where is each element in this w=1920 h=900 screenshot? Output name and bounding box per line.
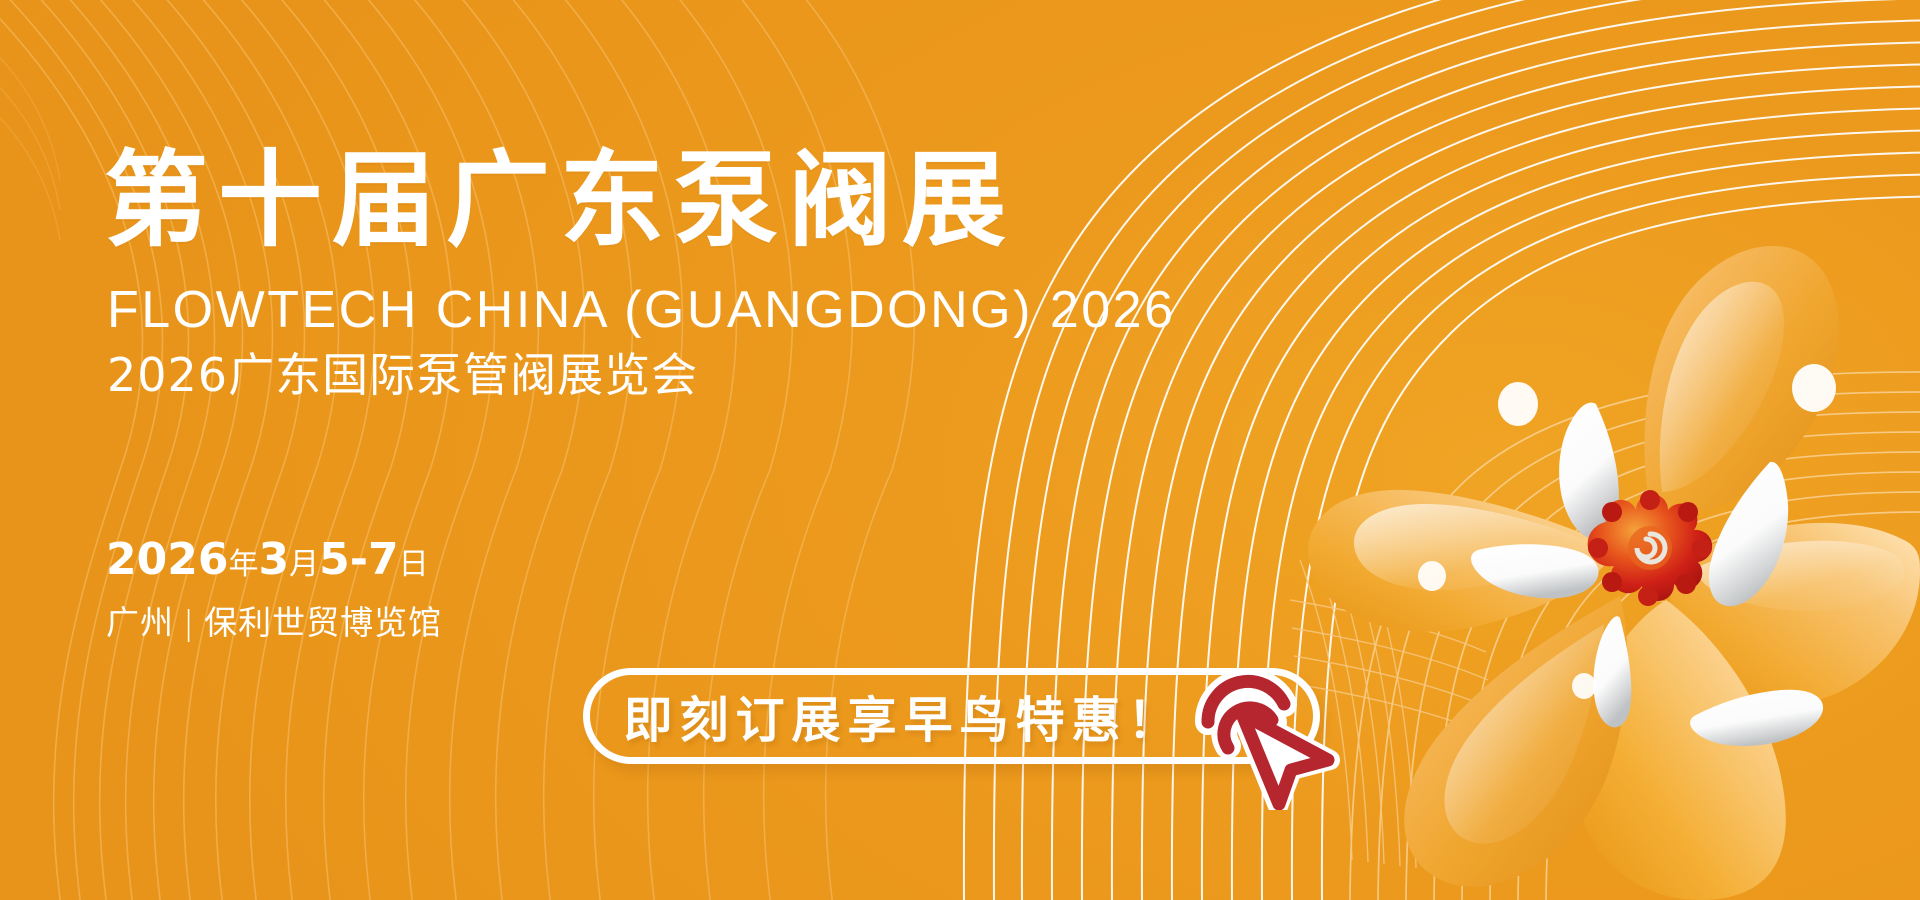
banner-content: 第十届广东泵阀展 FLOWTECH CHINA (GUANGDONG) 2026… <box>0 0 1920 900</box>
venue-name: 保利世贸博览馆 <box>204 603 442 642</box>
date-month-unit: 月 <box>289 547 319 582</box>
date-month: 3 <box>258 534 289 585</box>
mouse-click-cursor-icon <box>1188 660 1344 810</box>
event-venue: 广州|保利世贸博览馆 <box>106 596 442 644</box>
date-day-unit: 日 <box>399 547 429 582</box>
date-year-unit: 年 <box>228 547 258 582</box>
venue-city: 广州 <box>106 603 174 642</box>
page-title: 第十届广东泵阀展 <box>104 148 1016 252</box>
event-date: 2026年3月5-7日 <box>106 534 429 585</box>
title-english: FLOWTECH CHINA (GUANGDONG) 2026 <box>107 284 1176 336</box>
title-subtitle-cn: 2026广东国际泵管阀展览会 <box>107 352 698 398</box>
date-days: 5-7 <box>319 534 399 585</box>
venue-separator: | <box>174 603 204 642</box>
promo-banner: 第十届广东泵阀展 FLOWTECH CHINA (GUANGDONG) 2026… <box>0 0 1920 900</box>
date-year: 2026 <box>106 534 228 585</box>
